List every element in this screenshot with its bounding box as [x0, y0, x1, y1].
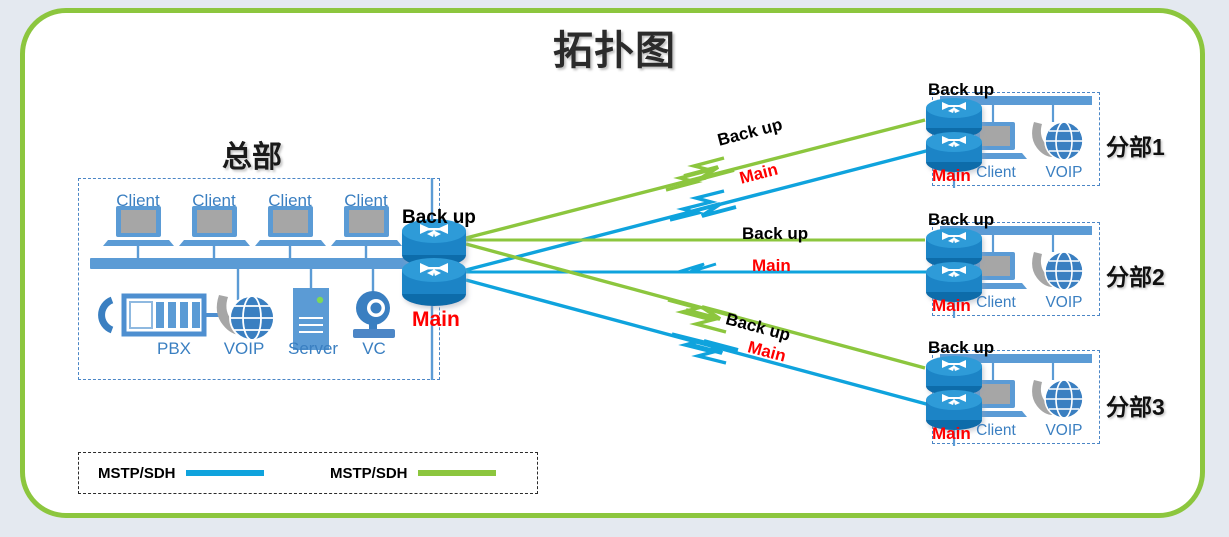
branch3-backup-router-label: Back up [928, 338, 994, 358]
branch1-title: 分部1 [1106, 128, 1165, 162]
hq-client-label-1: Client [114, 192, 162, 209]
hq-backup-router-label: Back up [402, 207, 476, 229]
branch1-main-router-label: Main [932, 166, 971, 186]
branch2-backup-router-label: Back up [928, 210, 994, 230]
legend-label-1: MSTP/SDH [98, 465, 176, 482]
link-label-branch2-backup: Back up [742, 224, 808, 244]
hq-server-label: Server [288, 340, 336, 357]
page-title: 拓扑图 [0, 18, 1229, 76]
hq-voip-label: VOIP [222, 340, 266, 357]
branch3-title: 分部3 [1106, 388, 1165, 422]
branch2-voip-label: VOIP [1042, 294, 1086, 311]
hq-client-label-4: Client [342, 192, 390, 209]
legend-label-2: MSTP/SDH [330, 465, 408, 482]
branch1-voip-label: VOIP [1042, 164, 1086, 181]
branch3-main-router-label: Main [932, 424, 971, 444]
branch3-voip-label: VOIP [1042, 422, 1086, 439]
link-label-branch2-main: Main [752, 256, 791, 276]
hq-lan-bus [90, 258, 420, 269]
branch2-main-router-label: Main [932, 296, 971, 316]
branch2-client-label: Client [972, 294, 1020, 311]
hq-pbx-label: PBX [142, 340, 206, 357]
hq-main-router-label: Main [412, 308, 460, 332]
hq-client-label-3: Client [266, 192, 314, 209]
hq-vc-label: VC [355, 340, 393, 357]
branch2-title: 分部2 [1106, 258, 1165, 292]
legend-swatch-backup [418, 470, 496, 476]
hq-client-label-2: Client [190, 192, 238, 209]
headquarters-title: 总部 [222, 132, 282, 176]
branch1-client-label: Client [972, 164, 1020, 181]
branch1-backup-router-label: Back up [928, 80, 994, 100]
legend-swatch-main [186, 470, 264, 476]
topology-diagram: 拓扑图 [0, 0, 1229, 537]
branch3-client-label: Client [972, 422, 1020, 439]
